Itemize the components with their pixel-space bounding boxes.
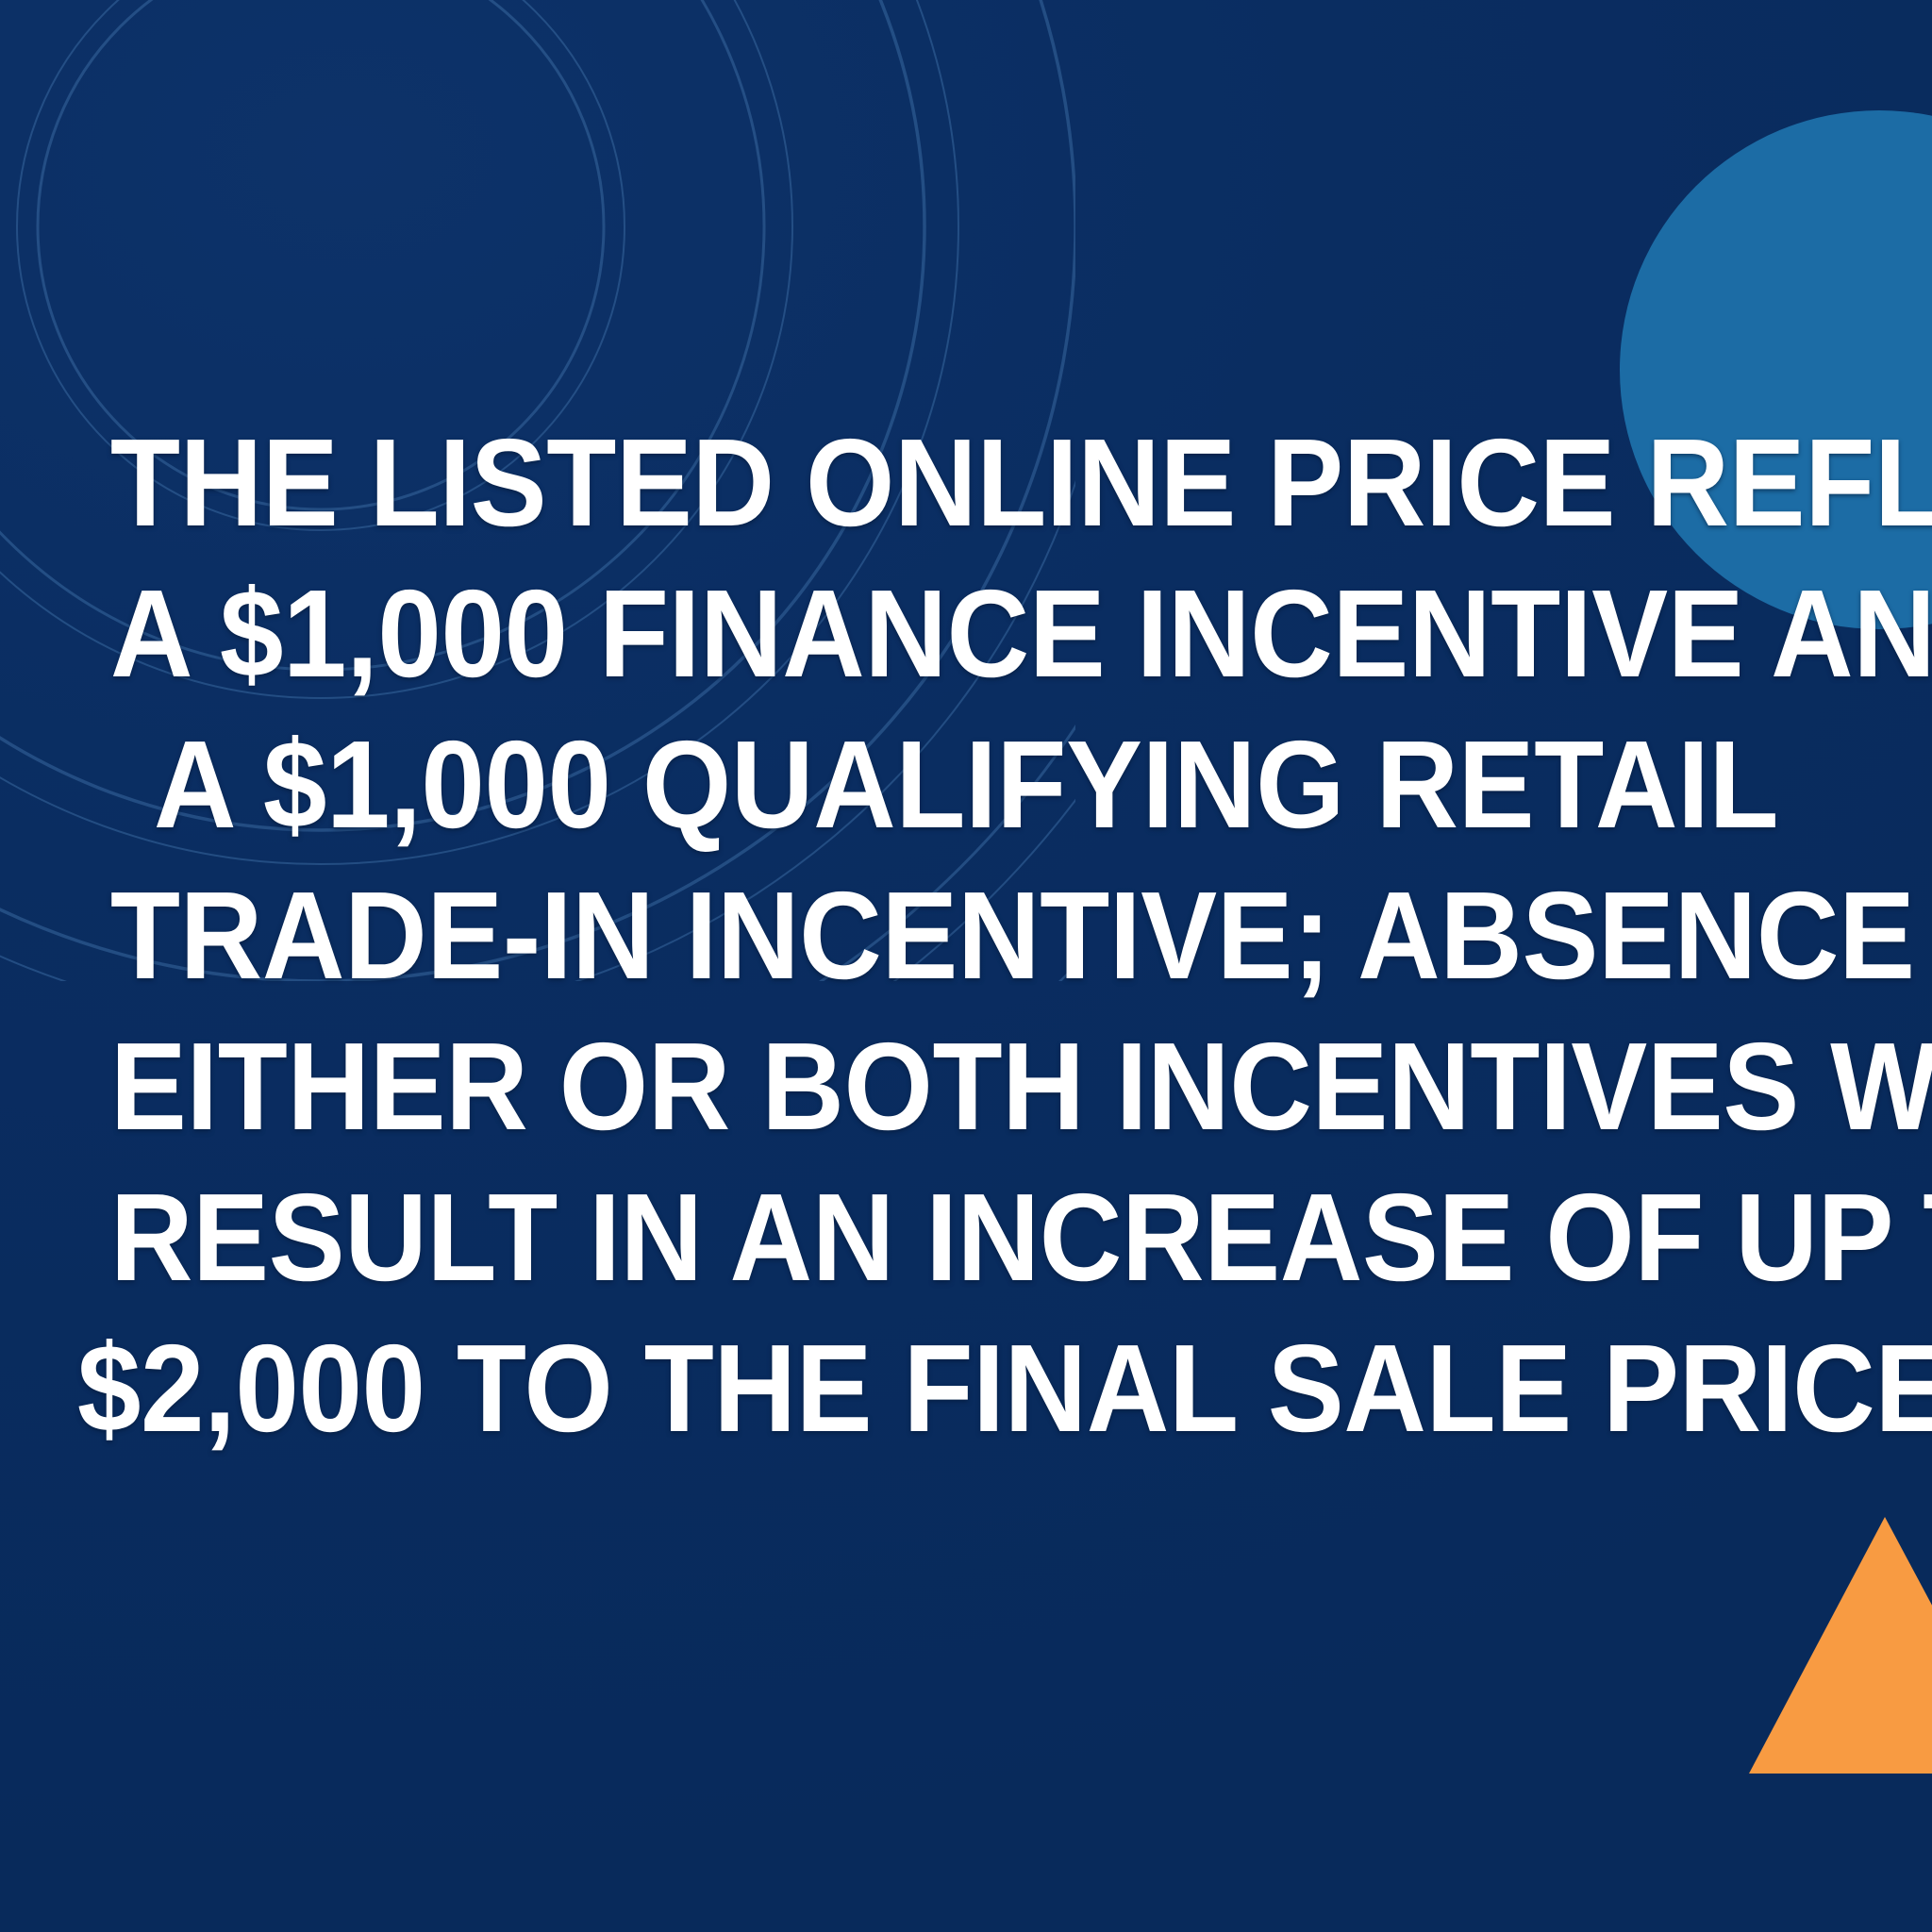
disclaimer-headline: THE LISTED ONLINE PRICE REFLECTS A $1,00… — [0, 408, 1932, 1464]
disclaimer-graphic: THE LISTED ONLINE PRICE REFLECTS A $1,00… — [0, 0, 1932, 1932]
disclaimer-line-4: TRADE-IN INCENTIVE; ABSENCE OF — [110, 860, 1888, 1011]
disclaimer-line-3: A $1,000 QUALIFYING RETAIL — [77, 709, 1855, 860]
disclaimer-line-2: A $1,000 FINANCE INCENTIVE AND — [110, 558, 1888, 709]
disclaimer-line-7: $2,000 TO THE FINAL SALE PRICE. — [77, 1313, 1855, 1464]
disclaimer-line-6: RESULT IN AN INCREASE OF UP TO — [110, 1162, 1888, 1313]
disclaimer-line-1: THE LISTED ONLINE PRICE REFLECTS — [110, 408, 1888, 558]
accent-triangle-decoration — [1743, 1506, 1932, 1789]
disclaimer-line-5: EITHER OR BOTH INCENTIVES WILL — [110, 1011, 1888, 1162]
